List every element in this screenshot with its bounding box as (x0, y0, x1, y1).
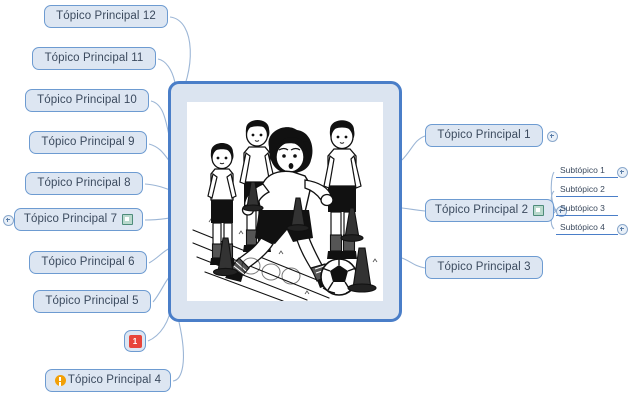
topic-label: Tópico Principal 5 (45, 296, 138, 308)
mindmap-canvas: Tópico Principal 12 Tópico Principal 11 … (0, 0, 628, 405)
topic-node-7[interactable]: Tópico Principal 7 (14, 208, 143, 231)
topic-node-6[interactable]: Tópico Principal 6 (29, 251, 147, 274)
topic-node-badge[interactable]: 1 (124, 330, 146, 352)
topic-label: Tópico Principal 10 (37, 95, 137, 107)
connector-central-r2 (402, 208, 425, 211)
topic-label: Tópico Principal 9 (41, 137, 134, 149)
topic-node-5[interactable]: Tópico Principal 5 (33, 290, 151, 313)
topic-label: Tópico Principal 11 (45, 53, 144, 65)
topic-label: Tópico Principal 12 (56, 11, 156, 23)
connector-central-r1 (402, 136, 425, 160)
connector-central-t9 (149, 144, 170, 162)
topic-node-12[interactable]: Tópico Principal 12 (44, 5, 168, 28)
topic-label: Tópico Principal 6 (41, 257, 134, 269)
topic-node-3[interactable]: Tópico Principal 3 (425, 256, 543, 279)
topic-node-11[interactable]: Tópico Principal 11 (32, 47, 156, 70)
topic-node-1[interactable]: Tópico Principal 1 (425, 124, 543, 147)
topic-label: Tópico Principal 3 (437, 262, 530, 274)
subtopic-node-4[interactable]: Subtópico 4 (556, 221, 618, 235)
subtopic-node-2[interactable]: Subtópico 2 (556, 183, 618, 197)
subtopic-label: Subtópico 1 (560, 165, 605, 175)
expand-icon-topic-7[interactable] (3, 215, 14, 226)
connector-central-t7 (145, 218, 170, 220)
topic-node-8[interactable]: Tópico Principal 8 (25, 172, 143, 195)
subtopic-label: Subtópico 2 (560, 184, 605, 194)
topic-label: Tópico Principal 7 (24, 214, 117, 226)
topic-node-2[interactable]: Tópico Principal 2 (425, 199, 554, 222)
topic-node-4[interactable]: Tópico Principal 4 (45, 369, 171, 392)
note-icon[interactable] (122, 214, 133, 225)
soccer-scene-svg (187, 102, 383, 301)
note-icon[interactable] (533, 205, 544, 216)
topic-node-9[interactable]: Tópico Principal 9 (29, 131, 147, 154)
subtopic-node-1[interactable]: Subtópico 1 (556, 164, 618, 178)
subtopic-label: Subtópico 3 (560, 203, 605, 213)
topic-label: Tópico Principal 2 (435, 205, 528, 217)
soccer-illustration (187, 102, 383, 301)
topic-node-10[interactable]: Tópico Principal 10 (25, 89, 149, 112)
topic-label: Tópico Principal 1 (437, 130, 530, 142)
connector-central-r3 (402, 258, 425, 268)
subtopic-label: Subtópico 4 (560, 222, 605, 232)
expand-icon-topic-1[interactable] (547, 131, 558, 142)
priority-icon[interactable] (55, 375, 66, 386)
connector-central-t4 (173, 322, 183, 381)
connector-central-t8 (145, 184, 170, 190)
subtopic-node-3[interactable]: Subtópico 3 (556, 202, 618, 216)
count-badge: 1 (129, 335, 142, 348)
topic-label: Tópico Principal 4 (68, 375, 161, 387)
central-image-node[interactable] (168, 81, 402, 322)
connector-central-t6 (149, 248, 170, 263)
expand-icon-subtopic-4[interactable] (617, 224, 628, 235)
expand-icon-subtopic-1[interactable] (617, 167, 628, 178)
topic-label: Tópico Principal 8 (37, 178, 130, 190)
